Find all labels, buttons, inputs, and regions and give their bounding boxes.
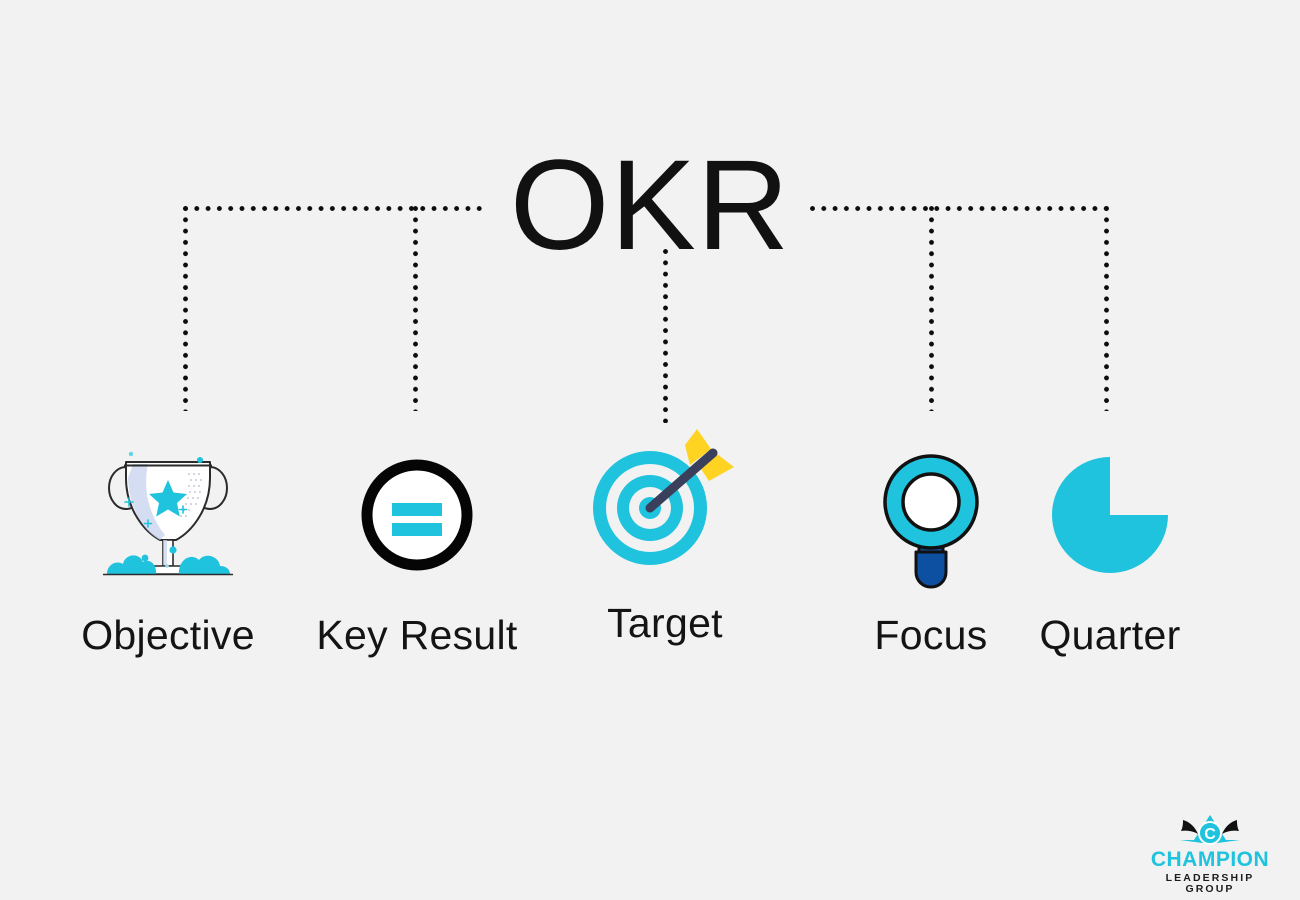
champion-emblem-icon: C bbox=[1140, 812, 1280, 848]
item-target[interactable]: Target bbox=[565, 428, 765, 647]
brand-subtitle: LEADERSHIP GROUP bbox=[1140, 873, 1280, 894]
emblem-letter: C bbox=[1204, 826, 1216, 843]
equals-circle-icon bbox=[307, 440, 527, 590]
item-focus[interactable]: Focus bbox=[851, 440, 1011, 659]
connector-vertical-target bbox=[663, 249, 668, 423]
item-label-focus: Focus bbox=[851, 612, 1011, 659]
brand-logo: C CHAMPION LEADERSHIP GROUP bbox=[1140, 812, 1280, 894]
item-label-key-result: Key Result bbox=[307, 612, 527, 659]
connector-vertical-quarter bbox=[1104, 206, 1109, 411]
item-label-objective: Objective bbox=[70, 612, 266, 659]
trophy-icon bbox=[70, 440, 266, 590]
item-label-quarter: Quarter bbox=[1010, 612, 1210, 659]
infographic-canvas: OKR bbox=[0, 0, 1300, 900]
item-objective[interactable]: Objective bbox=[70, 440, 266, 659]
item-label-target: Target bbox=[565, 600, 765, 647]
connector-vertical-focus bbox=[929, 206, 934, 411]
item-key-result[interactable]: Key Result bbox=[307, 440, 527, 659]
pie-chart-icon bbox=[1010, 440, 1210, 590]
target-arrow-icon bbox=[565, 428, 765, 578]
connector-vertical-objective bbox=[183, 206, 188, 411]
item-quarter[interactable]: Quarter bbox=[1010, 440, 1210, 659]
connector-vertical-key-result bbox=[413, 206, 418, 411]
connector-right-horizontal bbox=[810, 206, 1109, 211]
magnifier-icon bbox=[851, 440, 1011, 590]
connector-left-horizontal bbox=[183, 206, 485, 211]
brand-name: CHAMPION bbox=[1140, 849, 1280, 870]
